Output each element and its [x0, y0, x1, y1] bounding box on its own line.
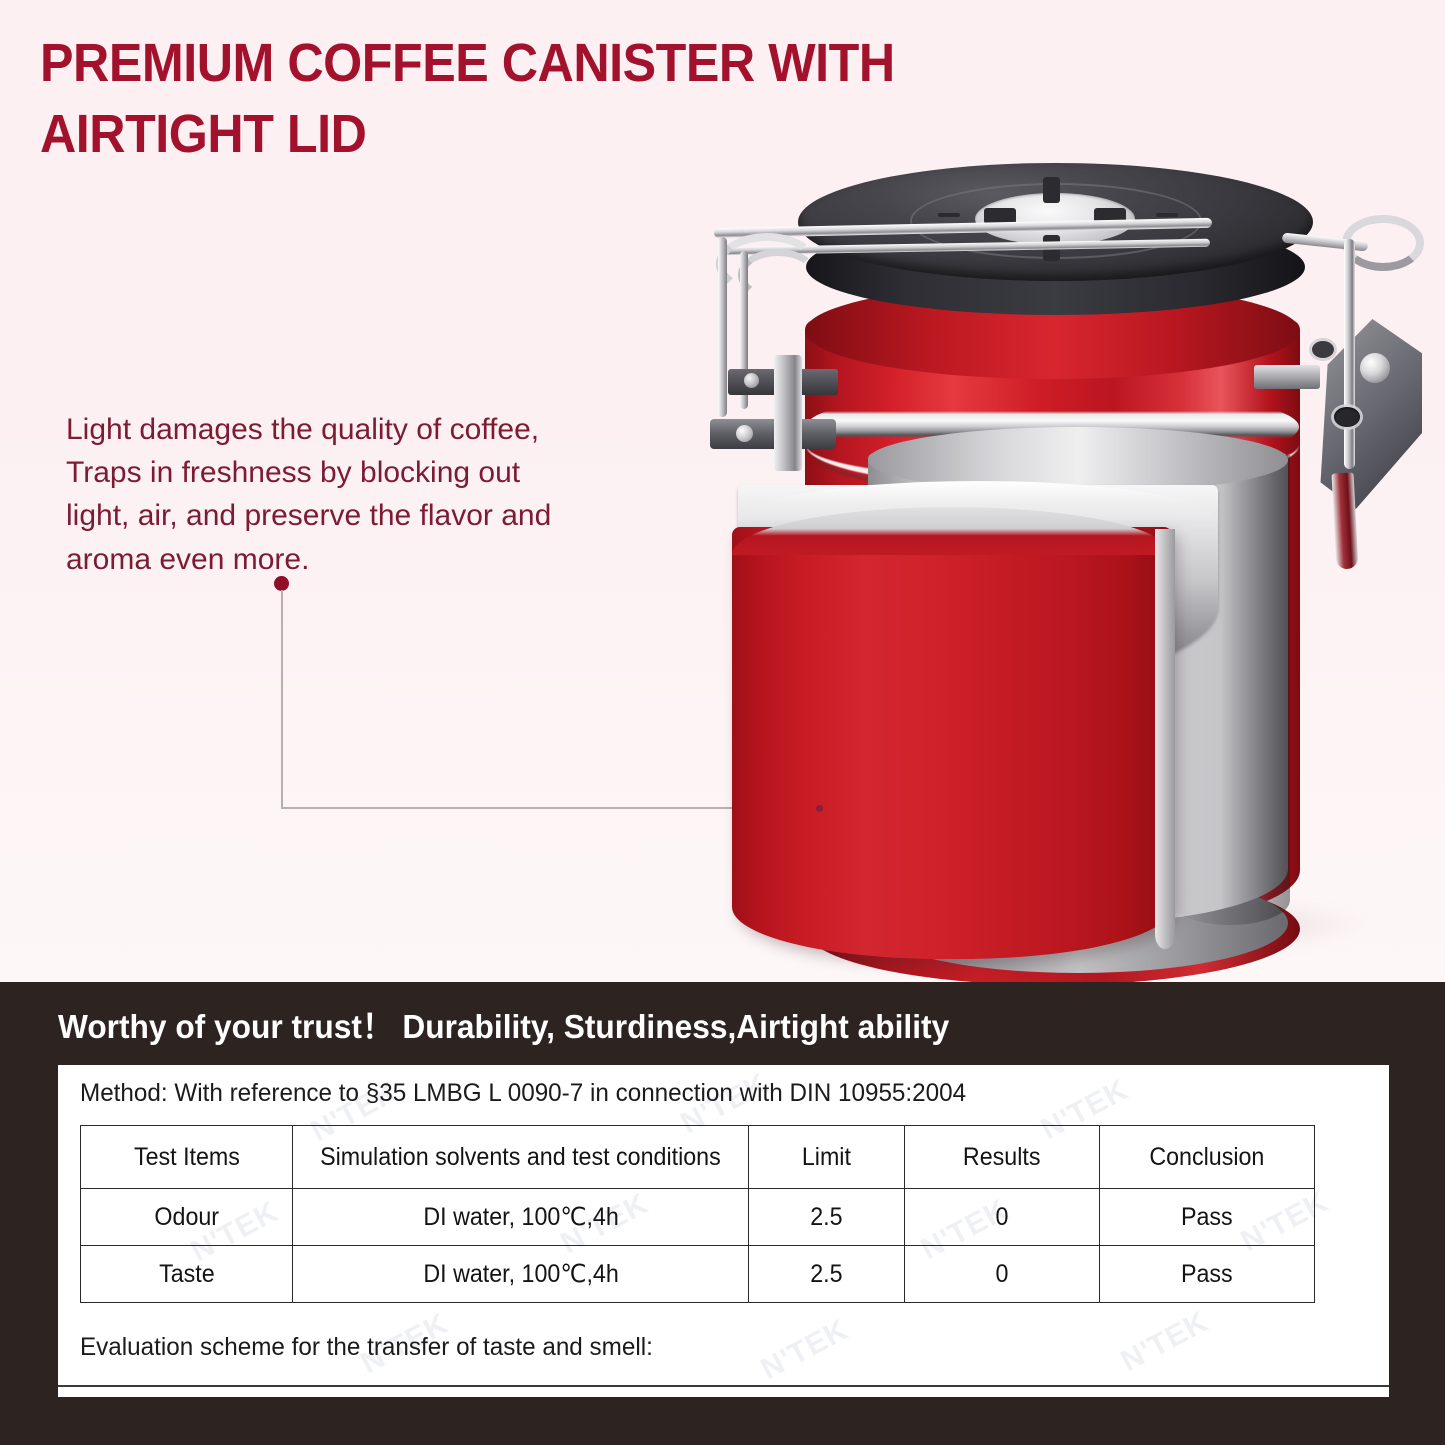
column-header-label: Conclusion: [1150, 1143, 1265, 1172]
clasp-mount-bracket: [1254, 365, 1320, 389]
cell-results: 0: [904, 1189, 1099, 1246]
cell-test-item: Taste: [81, 1246, 293, 1303]
red-panel-side-edge: [1155, 529, 1175, 949]
callout-line-vertical: [281, 590, 283, 809]
column-header-conclusion: Conclusion: [1100, 1126, 1315, 1189]
infographic-page: PREMIUM COFFEE CANISTER WITH AIRTIGHT LI…: [0, 0, 1445, 1445]
table-row: Taste DI water, 100℃,4h 2.5 0 Pass: [81, 1246, 1315, 1303]
test-method-line: Method: With reference to §35 LMBG L 009…: [80, 1079, 966, 1108]
hinge-left: [700, 233, 880, 453]
column-header-limit: Limit: [749, 1126, 905, 1189]
clasp-wire-vertical: [1344, 239, 1355, 469]
clasp-pivot-hole-upper: [1312, 341, 1334, 358]
cell-value: DI water, 100℃,4h: [423, 1259, 618, 1289]
column-header-label: Results: [963, 1143, 1041, 1172]
lid-marker-right-icon: [1156, 213, 1178, 217]
cell-value: DI water, 100℃,4h: [423, 1202, 618, 1232]
cell-conclusion: Pass: [1100, 1246, 1315, 1303]
hinge-rivet-lower: [736, 425, 753, 442]
cell-value: Odour: [154, 1203, 219, 1232]
cell-value: 2.5: [810, 1260, 842, 1289]
test-report-card: N'TEK N'TEK N'TEK N'TEK N'TEK N'TEK N'TE…: [58, 1065, 1389, 1397]
evaluation-scheme-line: Evaluation scheme for the transfer of ta…: [80, 1333, 653, 1362]
page-title: PREMIUM COFFEE CANISTER WITH AIRTIGHT LI…: [40, 28, 1137, 171]
cell-test-item: Odour: [81, 1189, 293, 1246]
watermark-text: N'TEK: [1116, 1305, 1215, 1379]
column-header-label: Limit: [802, 1143, 851, 1172]
clasp-right: [1286, 215, 1445, 575]
cell-conditions: DI water, 100℃,4h: [293, 1189, 749, 1246]
clasp-pivot-hole-lower: [1334, 407, 1360, 427]
column-header-label: Simulation solvents and test conditions: [320, 1143, 721, 1172]
cell-value: 0: [996, 1203, 1009, 1232]
red-outer-wall-panel: [732, 527, 1172, 959]
hinge-clip: [774, 355, 802, 471]
document-divider: [58, 1385, 1389, 1387]
table-header-row: Test Items Simulation solvents and test …: [81, 1126, 1315, 1189]
cell-conclusion: Pass: [1100, 1189, 1315, 1246]
hinge-bracket-lower: [710, 419, 836, 449]
product-image-coffee-canister: [700, 155, 1445, 982]
cell-value: Pass: [1181, 1260, 1233, 1289]
cell-conditions: DI water, 100℃,4h: [293, 1246, 749, 1303]
dial-tab-top: [1043, 177, 1060, 203]
hero-section: PREMIUM COFFEE CANISTER WITH AIRTIGHT LI…: [0, 0, 1445, 982]
hinge-wire-vertical-outer: [718, 237, 727, 417]
cell-limit: 2.5: [749, 1246, 905, 1303]
clasp-rivet: [1360, 353, 1390, 383]
hinge-wire-arc-inner: [738, 249, 818, 301]
column-header-test-items: Test Items: [81, 1126, 293, 1189]
watermark-text: N'TEK: [756, 1313, 855, 1387]
red-panel-speck: [816, 805, 823, 812]
lid-marker-left-icon: [938, 213, 960, 217]
callout-line-horizontal: [281, 807, 751, 809]
column-header-conditions: Simulation solvents and test conditions: [293, 1126, 749, 1189]
trust-heading: Worthy of your trust！ Durability, Sturdi…: [58, 1000, 1306, 1048]
cell-value: 0: [996, 1260, 1009, 1289]
test-results-table: Test Items Simulation solvents and test …: [80, 1125, 1315, 1303]
cell-limit: 2.5: [749, 1189, 905, 1246]
hinge-rivet-upper: [744, 373, 759, 388]
table-row: Odour DI water, 100℃,4h 2.5 0 Pass: [81, 1189, 1315, 1246]
callout-dot: [274, 576, 289, 591]
cell-value: 2.5: [810, 1203, 842, 1232]
cell-value: Taste: [159, 1260, 215, 1289]
cell-value: Pass: [1181, 1203, 1233, 1232]
cell-results: 0: [904, 1246, 1099, 1303]
feature-description: Light damages the quality of coffee, Tra…: [66, 408, 626, 581]
column-header-label: Test Items: [134, 1143, 240, 1172]
column-header-results: Results: [904, 1126, 1099, 1189]
